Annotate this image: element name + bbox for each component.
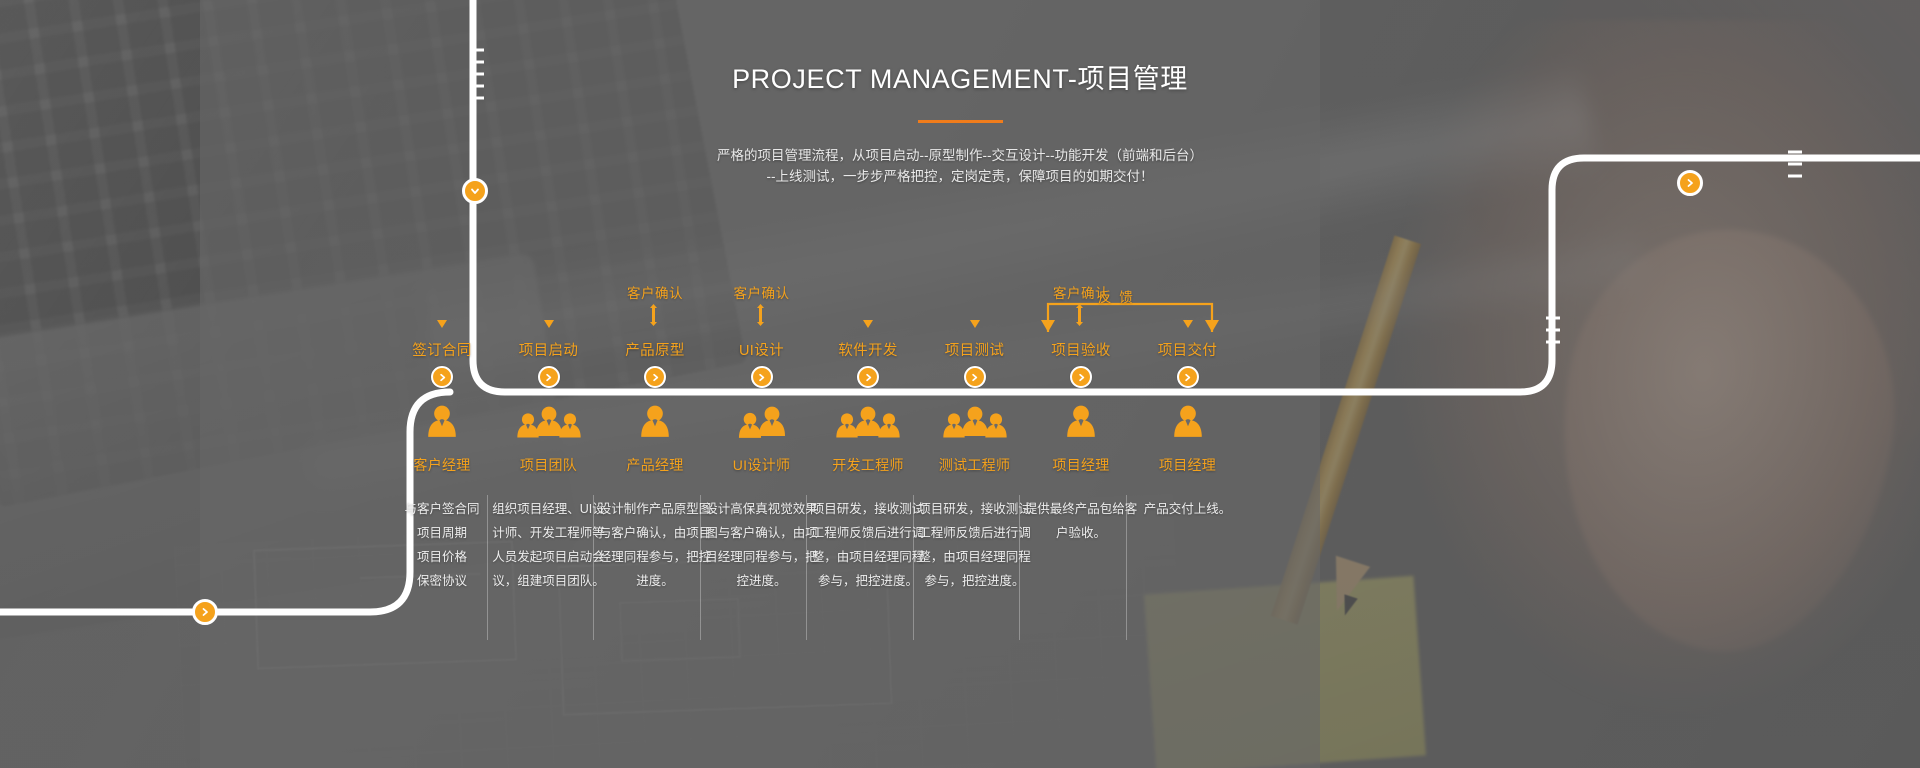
step-node-marker[interactable] <box>751 366 773 388</box>
step-three-people-icon <box>922 400 1028 448</box>
step-title: 产品原型 <box>602 339 708 360</box>
column-divider <box>913 495 914 640</box>
single-person-icon <box>633 400 677 448</box>
step-title: 项目测试 <box>922 339 1028 360</box>
step-confirm-label: 客户确认 <box>602 282 708 302</box>
caret-down-icon <box>815 316 921 333</box>
step-title: 项目交付 <box>1135 339 1241 360</box>
up-down-arrow-icon <box>602 302 708 331</box>
caret-down-icon <box>389 316 495 333</box>
column-divider <box>1019 495 1020 640</box>
step-description: 设计制作产品原型图与客户确认，由项目经理同程参与，把控进度。 <box>594 497 716 593</box>
step-confirm-label: 客户确认 <box>709 282 815 302</box>
chevron-right-icon <box>543 372 554 383</box>
step-three-people-icon <box>496 400 602 448</box>
project-management-poster: PROJECT MANAGEMENT-项目管理 严格的项目管理流程，从项目启动-… <box>0 0 1920 768</box>
chevron-right-icon <box>969 372 980 383</box>
single-person-icon <box>1059 400 1103 448</box>
step-description: 与客户签合同项目周期项目价格保密协议 <box>381 497 503 593</box>
column-divider <box>700 495 701 640</box>
step-single-person-icon <box>389 400 495 448</box>
column-divider <box>1126 495 1127 640</box>
column-divider <box>487 495 488 640</box>
step-node-marker[interactable] <box>857 366 879 388</box>
step-description: 项目研发，接收测试工程师反馈后进行调整，由项目经理同程参与，把控进度。 <box>807 497 929 593</box>
step-node-marker[interactable] <box>538 366 560 388</box>
step-description: 组织项目经理、UI设计师、开发工程师等人员发起项目启动会议，组建项目团队。 <box>488 497 610 593</box>
step-description-line: 保密协议 <box>381 569 503 593</box>
step-description-line: 项目价格 <box>381 545 503 569</box>
up-down-arrow-icon <box>709 302 815 331</box>
step-description: 提供最终产品包给客户验收。 <box>1020 497 1142 545</box>
step-three-people-icon <box>815 400 921 448</box>
step-two-people-icon <box>709 400 815 448</box>
step-node-marker[interactable] <box>644 366 666 388</box>
step-title: 项目启动 <box>496 339 602 360</box>
three-people-icon <box>514 400 584 448</box>
chevron-right-icon <box>650 372 661 383</box>
step-single-person-icon <box>602 400 708 448</box>
step-node-marker[interactable] <box>964 366 986 388</box>
step-description: 设计高保真视觉效果图与客户确认，由项目经理同程参与，把控进度。 <box>701 497 823 593</box>
step-node-marker[interactable] <box>431 366 453 388</box>
caret-down-icon <box>922 316 1028 333</box>
step-description-line: 与客户签合同 <box>381 497 503 521</box>
step-description: 项目研发，接收测试工程师反馈后进行调整，由项目经理同程参与，把控进度。 <box>914 497 1036 593</box>
chevron-right-icon <box>756 372 767 383</box>
step-node-marker[interactable] <box>1070 366 1092 388</box>
two-people-icon <box>732 400 792 448</box>
single-person-icon <box>420 400 464 448</box>
three-people-icon <box>940 400 1010 448</box>
single-person-icon <box>1166 400 1210 448</box>
three-people-icon <box>833 400 903 448</box>
column-divider <box>593 495 594 640</box>
step-description: 产品交付上线。 <box>1127 497 1249 521</box>
step-single-person-icon <box>1135 400 1241 448</box>
step-title: 软件开发 <box>815 339 921 360</box>
step-title: UI设计 <box>709 339 815 360</box>
chevron-right-icon <box>863 372 874 383</box>
step-title: 签订合同 <box>389 339 495 360</box>
chevron-right-icon <box>437 372 448 383</box>
project-timeline: 签订合同客户经理与客户签合同项目周期项目价格保密协议项目启动项目团队组织项目经理… <box>0 0 1920 768</box>
feedback-label: 反 馈 <box>1098 286 1135 306</box>
caret-down-icon <box>496 316 602 333</box>
step-role-label: 项目经理 <box>1125 455 1251 475</box>
step-node-marker[interactable] <box>1177 366 1199 388</box>
chevron-right-icon <box>1076 372 1087 383</box>
chevron-right-icon <box>1182 372 1193 383</box>
column-divider <box>806 495 807 640</box>
step-title: 项目验收 <box>1028 339 1134 360</box>
step-description-line: 项目周期 <box>381 521 503 545</box>
step-single-person-icon <box>1028 400 1134 448</box>
